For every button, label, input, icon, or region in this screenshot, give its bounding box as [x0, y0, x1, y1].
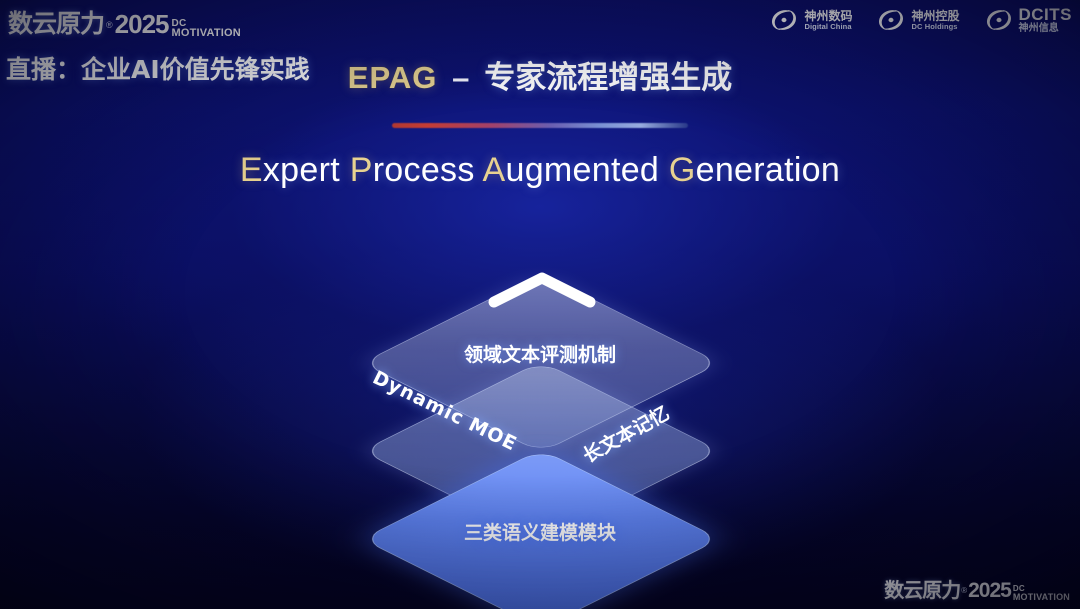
partner-name-en: Digital China — [804, 23, 852, 31]
title-dash: – — [448, 60, 473, 95]
subtitle-rest: rocess — [373, 151, 475, 189]
subtitle-word: Generation — [669, 151, 840, 189]
presentation-slide: 数云原力 ® 2025 DC MOTIVATION 直播：企业AI价值先锋实践 … — [0, 0, 1080, 609]
watermark-dc-line2: MOTIVATION — [1013, 593, 1070, 601]
subtitle-initial: A — [483, 151, 506, 189]
swirl-icon — [984, 7, 1014, 33]
subtitle-initial: G — [669, 151, 696, 189]
gradient-divider — [392, 123, 688, 128]
partner-logos: 神州数码 Digital China 神州控股 DC Holdings — [769, 6, 1072, 34]
slide-subtitle: Expert Process Augmented Generation — [0, 151, 1080, 190]
registered-mark: ® — [106, 20, 113, 30]
partner-name-en: DC Holdings — [911, 23, 959, 31]
subtitle-initial: E — [240, 151, 263, 189]
brand-logo-topleft: 数云原力 ® 2025 DC MOTIVATION — [8, 4, 241, 40]
title-acronym: EPAG — [348, 60, 438, 95]
swirl-icon — [876, 7, 906, 33]
partner-logo-dcits: DCITS 神州信息 — [984, 6, 1073, 34]
swirl-icon — [769, 7, 799, 33]
watermark-name-cn: 数云原力 — [884, 574, 960, 603]
partner-name-en: 神州信息 — [1019, 24, 1073, 35]
partner-logo-dc-holdings: 神州控股 DC Holdings — [876, 7, 959, 33]
watermark-registered-mark: ® — [961, 586, 967, 595]
stack-layer-bottom — [290, 398, 790, 609]
watermark-dc-motivation: DC MOTIVATION — [1013, 585, 1070, 601]
subtitle-initial: P — [350, 151, 373, 189]
brand-watermark-bottomright: 数云原力 ® 2025 DC MOTIVATION — [884, 574, 1070, 603]
watermark-year: 2025 — [968, 579, 1011, 603]
title-chinese: 专家流程增强生成 — [484, 60, 732, 96]
subtitle-rest: eneration — [696, 151, 840, 189]
partner-name-cn: 神州控股 — [911, 10, 959, 23]
subtitle-word: Expert — [240, 151, 340, 189]
subtitle-rest: xpert — [263, 151, 340, 189]
partner-name-cn: DCITS — [1019, 6, 1073, 24]
layered-stack-diagram: 领域文本评测机制 Dynamic MOE 长文本记忆 三类语义建模模块 — [290, 222, 790, 572]
partner-logo-digital-china: 神州数码 Digital China — [769, 7, 852, 33]
subtitle-rest: ugmented — [506, 151, 660, 189]
subtitle-word: Augmented — [483, 151, 660, 189]
partner-name-cn: 神州数码 — [804, 10, 852, 23]
brand-dc-motivation: DC MOTIVATION — [172, 19, 241, 38]
slide-title: EPAG – 专家流程增强生成 — [0, 52, 1080, 97]
brand-dc-line2: MOTIVATION — [172, 28, 241, 38]
brand-year: 2025 — [115, 9, 169, 40]
subtitle-word: Process — [350, 151, 475, 189]
stack-plate-bottom — [361, 449, 720, 609]
brand-name-cn: 数云原力 — [8, 4, 104, 40]
